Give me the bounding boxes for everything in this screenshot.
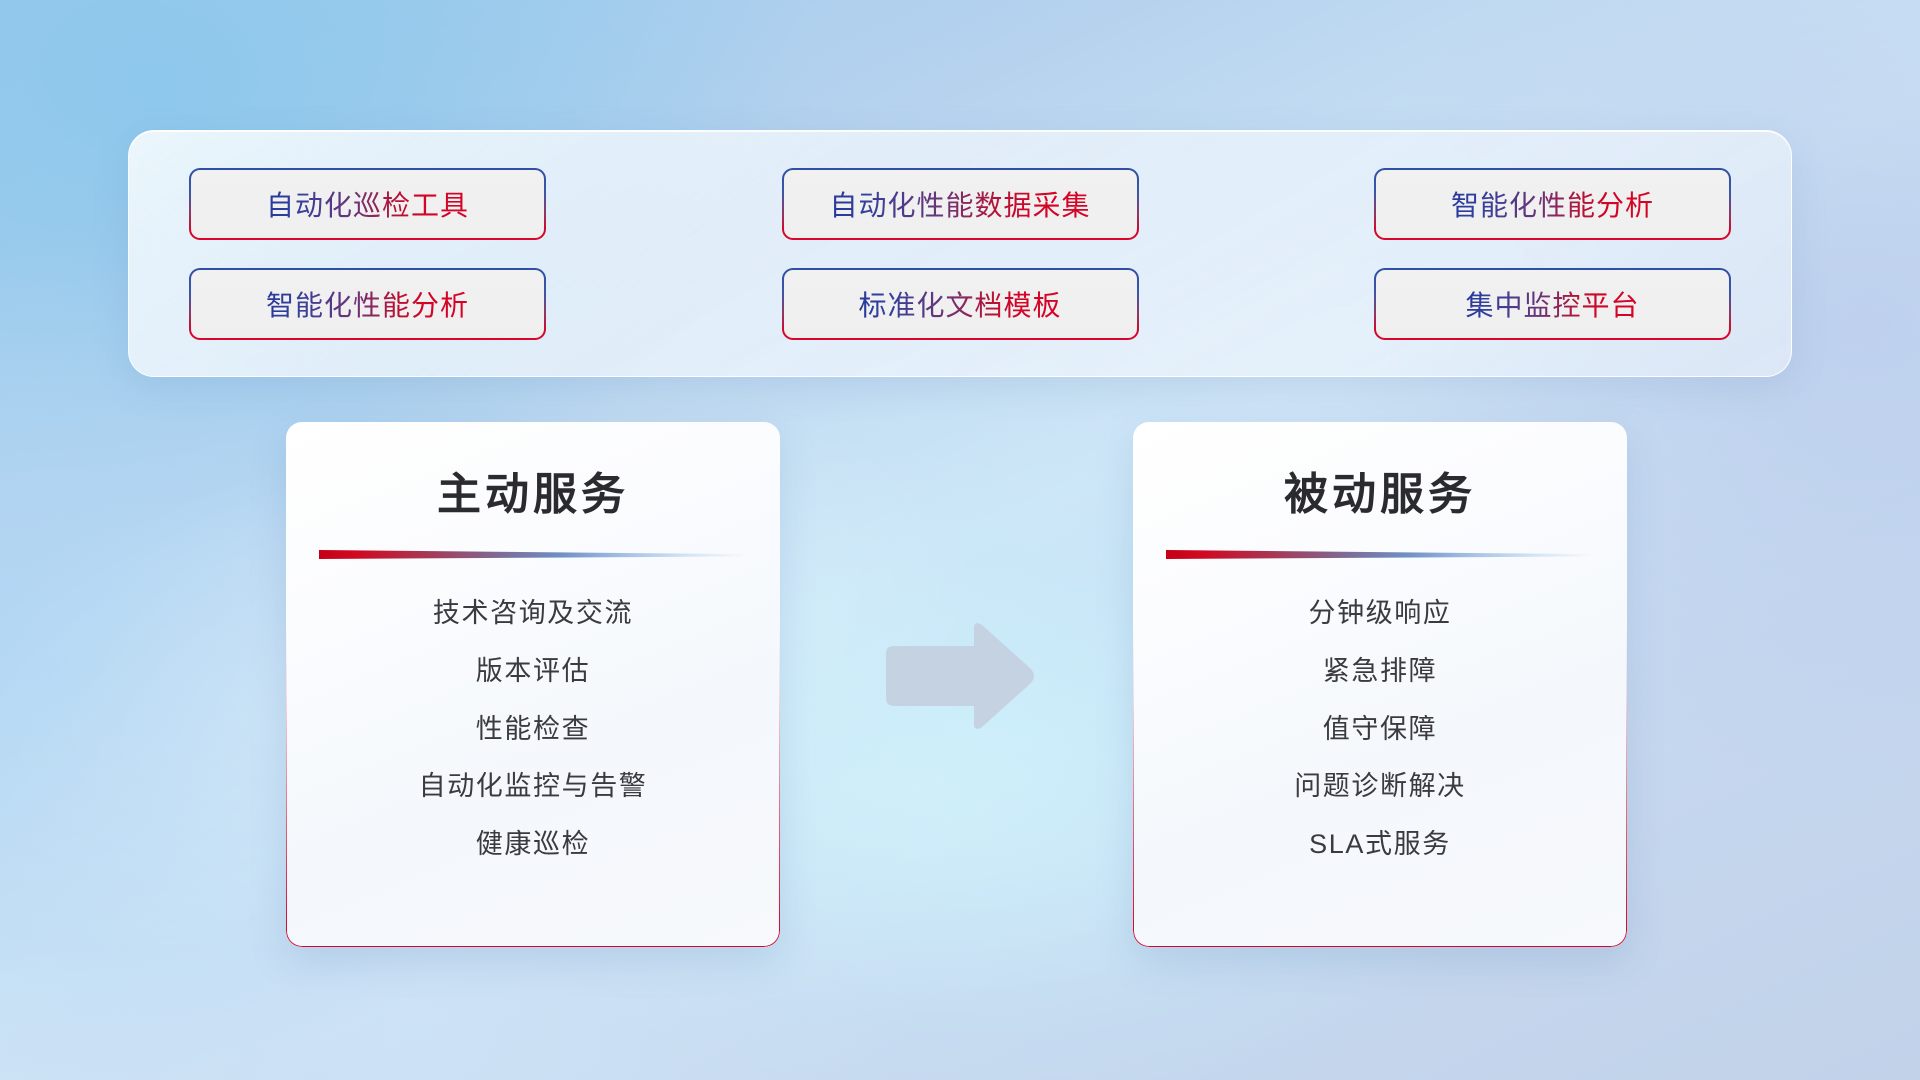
card-title: 被动服务 bbox=[1133, 458, 1627, 522]
card-item-list: 技术咨询及交流 版本评估 性能检查 自动化监控与告警 健康巡检 bbox=[286, 597, 780, 862]
capability-pill-central-monitoring-platform[interactable]: 集中监控平台 bbox=[1374, 268, 1731, 340]
flow-arrow bbox=[878, 620, 1038, 732]
service-card-reactive[interactable]: 被动服务 分钟级响应 紧急排障 值守保障 问题诊断解决 SLA式服务 bbox=[1133, 422, 1627, 947]
capability-pill-standard-doc-template[interactable]: 标准化文档模板 bbox=[782, 268, 1139, 340]
list-item: 版本评估 bbox=[312, 655, 754, 689]
list-item: 紧急排障 bbox=[1159, 655, 1601, 689]
arrow-right-icon bbox=[878, 620, 1038, 732]
card-title: 主动服务 bbox=[286, 458, 780, 522]
slide-canvas: 自动化巡检工具 自动化性能数据采集 智能化性能分析 智能化性能分析 标准化文档模… bbox=[0, 0, 1920, 1080]
list-item: 自动化监控与告警 bbox=[312, 770, 754, 804]
capability-row-2: 智能化性能分析 标准化文档模板 集中监控平台 bbox=[189, 268, 1731, 340]
capability-pill-label: 智能化性能分析 bbox=[1451, 184, 1654, 224]
service-card-proactive[interactable]: 主动服务 技术咨询及交流 版本评估 性能检查 自动化监控与告警 健康巡检 bbox=[286, 422, 780, 947]
capability-panel: 自动化巡检工具 自动化性能数据采集 智能化性能分析 智能化性能分析 标准化文档模… bbox=[128, 130, 1792, 377]
capability-pill-label: 自动化巡检工具 bbox=[266, 184, 469, 224]
capability-row-1: 自动化巡检工具 自动化性能数据采集 智能化性能分析 bbox=[189, 168, 1731, 240]
card-item-list: 分钟级响应 紧急排障 值守保障 问题诊断解决 SLA式服务 bbox=[1133, 597, 1627, 862]
list-item: 性能检查 bbox=[312, 713, 754, 747]
list-item: 问题诊断解决 bbox=[1159, 770, 1601, 804]
capability-pill-label: 智能化性能分析 bbox=[266, 284, 469, 324]
capability-pill-intelligent-perf-analysis[interactable]: 智能化性能分析 bbox=[1374, 168, 1731, 240]
card-divider bbox=[1166, 550, 1594, 559]
list-item: 技术咨询及交流 bbox=[312, 597, 754, 631]
card-divider bbox=[319, 550, 747, 559]
capability-pill-label: 自动化性能数据采集 bbox=[829, 184, 1090, 224]
capability-pill-auto-inspection-tool[interactable]: 自动化巡检工具 bbox=[189, 168, 546, 240]
capability-pill-intelligent-perf-analysis-2[interactable]: 智能化性能分析 bbox=[189, 268, 546, 340]
capability-pill-auto-perf-data-collection[interactable]: 自动化性能数据采集 bbox=[782, 168, 1139, 240]
list-item: SLA式服务 bbox=[1159, 828, 1601, 862]
list-item: 健康巡检 bbox=[312, 828, 754, 862]
list-item: 值守保障 bbox=[1159, 713, 1601, 747]
list-item: 分钟级响应 bbox=[1159, 597, 1601, 631]
capability-pill-label: 标准化文档模板 bbox=[858, 284, 1061, 324]
capability-pill-label: 集中监控平台 bbox=[1465, 284, 1639, 324]
